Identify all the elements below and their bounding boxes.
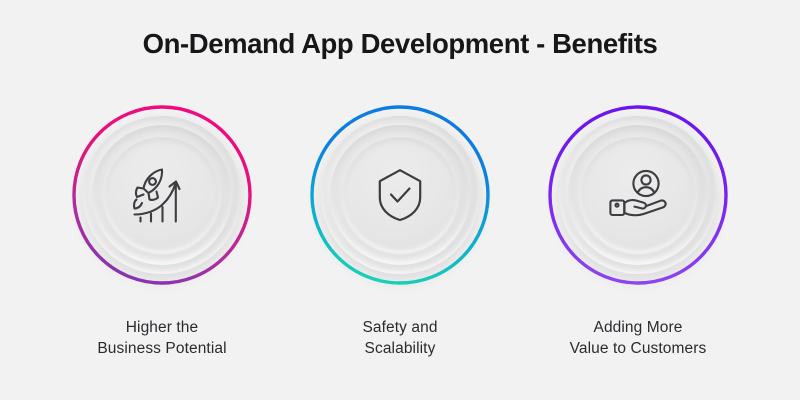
infographic-banner: On-Demand App Development - Benefits [0, 0, 800, 400]
benefit-caption: Safety and Scalability [362, 317, 437, 359]
benefit-badge [548, 105, 728, 285]
benefit-card-adding-value-customers[interactable]: Adding More Value to Customers [534, 105, 742, 359]
benefit-card-higher-business-potential[interactable]: Higher the Business Potential [58, 105, 266, 359]
shield-check-icon [310, 105, 490, 285]
benefit-card-safety-scalability[interactable]: Safety and Scalability [296, 105, 504, 359]
rocket-growth-chart-icon [72, 105, 252, 285]
benefits-card-row: Higher the Business Potential [0, 105, 800, 359]
benefit-caption: Higher the Business Potential [97, 317, 226, 359]
hand-holding-customer-icon [548, 105, 728, 285]
benefit-badge [72, 105, 252, 285]
benefit-caption: Adding More Value to Customers [570, 317, 707, 359]
benefit-badge [310, 105, 490, 285]
page-title: On-Demand App Development - Benefits [0, 27, 800, 61]
